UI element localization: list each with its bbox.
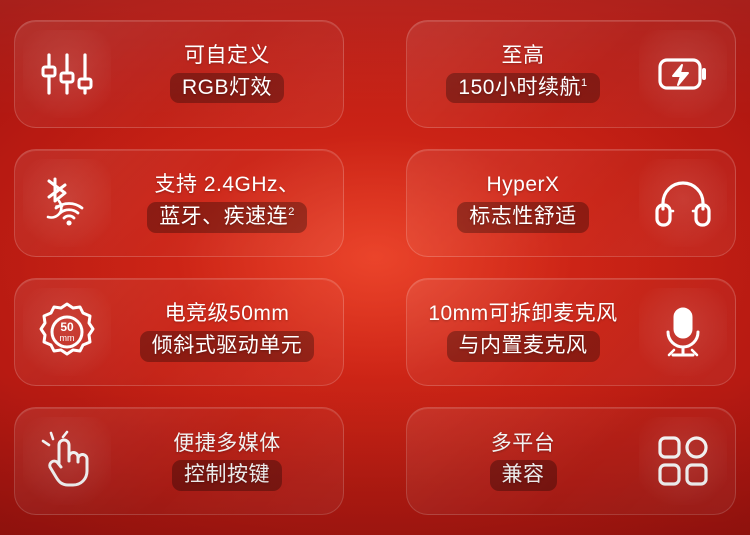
- feature-line-highlight: 与内置麦克风: [447, 331, 600, 362]
- feature-text-hyperx-comfort: HyperX 标志性舒适: [411, 173, 635, 233]
- feature-line: 可自定义: [184, 44, 270, 69]
- feature-line: 支持 2.4GHz、: [154, 173, 299, 198]
- bluetooth-wifi-icon: [19, 155, 115, 251]
- svg-text:50: 50: [60, 320, 74, 334]
- feature-line: 多平台: [491, 432, 556, 457]
- feature-panel-drivers-50mm: 50 mm 电竞级50mm 倾斜式驱动单元: [14, 278, 344, 386]
- feature-line: HyperX: [486, 173, 559, 198]
- feature-text-multi-platform: 多平台 兼容: [411, 432, 635, 492]
- feature-text-battery-life: 至高 150小时续航1: [411, 44, 635, 104]
- feature-panel-multi-platform: 多平台 兼容: [406, 407, 736, 515]
- feature-panel-rgb-lighting: 可自定义 RGB灯效: [14, 20, 344, 128]
- feature-line-text: 150小时续航: [458, 76, 581, 99]
- feature-text-wireless-connectivity: 支持 2.4GHz、 蓝牙、疾速连2: [115, 173, 339, 233]
- platform-squares-icon: [635, 413, 731, 509]
- feature-cell-wireless-connectivity: 支持 2.4GHz、 蓝牙、疾速连2: [14, 141, 370, 264]
- feature-cell-drivers-50mm: 50 mm 电竞级50mm 倾斜式驱动单元: [14, 271, 370, 394]
- feature-line-highlight: 蓝牙、疾速连2: [147, 202, 307, 233]
- feature-line-text: 蓝牙、疾速连: [159, 205, 288, 228]
- footnote-marker: 2: [288, 206, 295, 218]
- feature-panel-media-controls: 便捷多媒体 控制按键: [14, 407, 344, 515]
- driver-gear-50mm-icon: 50 mm: [19, 284, 115, 380]
- feature-line-highlight: 150小时续航1: [446, 73, 599, 104]
- footnote-marker: 1: [581, 77, 588, 89]
- feature-cell-battery-life: 至高 150小时续航1: [380, 12, 736, 135]
- headset-icon: [635, 155, 731, 251]
- feature-cell-hyperx-comfort: HyperX 标志性舒适: [380, 141, 736, 264]
- feature-line-highlight: RGB灯效: [170, 73, 284, 104]
- feature-line: 电竞级50mm: [165, 302, 290, 327]
- feature-grid: 可自定义 RGB灯效 至高 150小时续航1: [0, 0, 750, 535]
- feature-line-highlight: 倾斜式驱动单元: [140, 331, 315, 362]
- feature-cell-multi-platform: 多平台 兼容: [380, 400, 736, 523]
- feature-text-media-controls: 便捷多媒体 控制按键: [115, 432, 339, 492]
- feature-line: 至高: [502, 44, 545, 69]
- feature-line-highlight: 兼容: [490, 460, 557, 491]
- feature-text-drivers-50mm: 电竞级50mm 倾斜式驱动单元: [115, 302, 339, 362]
- microphone-icon: [635, 284, 731, 380]
- feature-panel-wireless-connectivity: 支持 2.4GHz、 蓝牙、疾速连2: [14, 149, 344, 257]
- feature-line: 便捷多媒体: [173, 432, 281, 457]
- rgb-lighting-icon: [19, 26, 115, 122]
- feature-text-detachable-microphone: 10mm可拆卸麦克风 与内置麦克风: [411, 302, 635, 362]
- feature-line: 10mm可拆卸麦克风: [428, 302, 617, 327]
- feature-panel-hyperx-comfort: HyperX 标志性舒适: [406, 149, 736, 257]
- feature-cell-rgb-lighting: 可自定义 RGB灯效: [14, 12, 370, 135]
- battery-bolt-icon: [635, 26, 731, 122]
- feature-panel-detachable-microphone: 10mm可拆卸麦克风 与内置麦克风: [406, 278, 736, 386]
- svg-text:mm: mm: [60, 333, 75, 343]
- feature-line-highlight: 标志性舒适: [457, 202, 589, 233]
- feature-grid-page: 可自定义 RGB灯效 至高 150小时续航1: [0, 0, 750, 535]
- feature-cell-detachable-microphone: 10mm可拆卸麦克风 与内置麦克风: [380, 271, 736, 394]
- feature-line-highlight: 控制按键: [172, 460, 282, 491]
- feature-panel-battery-life: 至高 150小时续航1: [406, 20, 736, 128]
- feature-cell-media-controls: 便捷多媒体 控制按键: [14, 400, 370, 523]
- tap-hand-icon: [19, 413, 115, 509]
- feature-text-rgb-lighting: 可自定义 RGB灯效: [115, 44, 339, 104]
